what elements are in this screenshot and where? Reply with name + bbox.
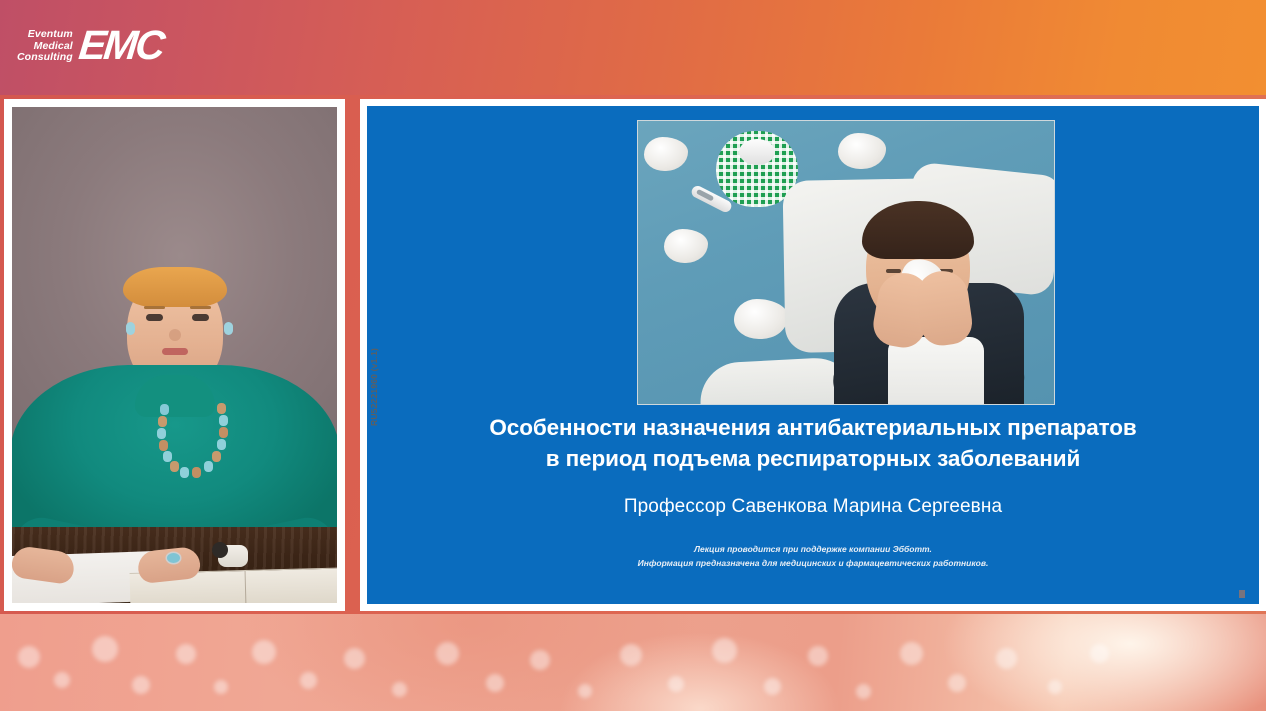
bokeh-dot <box>252 640 276 664</box>
slide-title: Особенности назначения антибактериальных… <box>367 412 1259 474</box>
bokeh-dot <box>344 648 365 669</box>
speaker-video[interactable] <box>12 107 337 603</box>
necklace-bead <box>219 427 228 438</box>
bokeh-dot <box>392 682 407 697</box>
logo-emc-mark: EMC <box>77 25 165 66</box>
bokeh-dot <box>54 672 70 688</box>
bottom-decorative-band <box>0 614 1266 711</box>
bokeh-dot <box>214 680 228 694</box>
speaker-collar <box>135 375 215 417</box>
speaker-panel-frame <box>4 99 345 611</box>
ice-bag-cap <box>739 139 775 165</box>
slide-title-line1: Особенности назначения антибактериальных… <box>407 412 1219 443</box>
bokeh-dot <box>620 644 642 666</box>
necklace-bead <box>158 416 167 427</box>
necklace-bead <box>192 467 201 478</box>
speaker-nose <box>169 329 181 341</box>
necklace-bead <box>217 403 226 414</box>
bokeh-dot <box>176 644 196 664</box>
speaker-earring-right <box>224 322 233 335</box>
bokeh-dot <box>948 674 966 692</box>
presentation-slide[interactable]: RU52221960 (v1.1) <box>367 106 1259 604</box>
necklace-bead <box>180 467 189 478</box>
bokeh-dot <box>578 684 592 698</box>
logo-wordmark: Eventum Medical Consulting <box>17 29 73 64</box>
bokeh-dot <box>436 642 459 665</box>
logo-line-eventum: Eventum <box>28 29 73 41</box>
slide-photo <box>637 120 1055 405</box>
speaker-eye-left <box>146 314 163 321</box>
bokeh-dot <box>764 678 781 695</box>
necklace-bead <box>219 415 228 426</box>
webinar-screen: Eventum Medical Consulting EMC <box>0 0 1266 711</box>
speaker-earring-left <box>126 322 135 335</box>
necklace-bead <box>212 451 221 462</box>
bokeh-dot <box>668 676 684 692</box>
bokeh-dot <box>486 674 504 692</box>
slide-panel-frame: RU52221960 (v1.1) <box>360 99 1266 611</box>
speaker-watch <box>218 545 248 567</box>
bokeh-dot <box>996 648 1017 669</box>
speaker-mouth <box>162 348 188 355</box>
bokeh-dot <box>712 638 737 663</box>
slide-disclaimer: Лекция проводится при поддержке компании… <box>367 542 1259 570</box>
slide-title-line2: в период подъема респираторных заболеван… <box>407 443 1219 474</box>
bokeh-dot <box>856 684 871 699</box>
bokeh-dot <box>132 676 150 694</box>
speaker-fringe <box>123 267 227 307</box>
necklace-bead <box>157 428 166 439</box>
speaker-brow-right <box>190 306 211 309</box>
bokeh-dot <box>1048 680 1062 694</box>
speaker-brow-left <box>144 306 165 309</box>
disclaimer-line1: Лекция проводится при поддержке компании… <box>367 542 1259 556</box>
bokeh-dot <box>900 642 923 665</box>
necklace-bead <box>217 439 226 450</box>
speaker-eye-right <box>192 314 209 321</box>
bokeh-dot <box>1090 644 1109 663</box>
bokeh-dot <box>808 646 828 666</box>
necklace-bead <box>163 451 172 462</box>
necklace-bead <box>159 440 168 451</box>
logo-line-consulting: Consulting <box>17 52 73 64</box>
disclaimer-line2: Информация предназначена для медицинских… <box>367 556 1259 570</box>
top-gradient-banner: Eventum Medical Consulting EMC <box>0 0 1266 95</box>
emc-logo: Eventum Medical Consulting EMC <box>17 26 162 67</box>
speaker-ring <box>167 553 180 563</box>
slide-speaker-name: Профессор Савенкова Марина Сергеевна <box>367 496 1259 518</box>
necklace-bead <box>170 461 179 472</box>
bokeh-dot <box>300 672 317 689</box>
slide-corner-artifact <box>1239 590 1245 598</box>
bokeh-dot <box>530 650 550 670</box>
necklace-bead <box>160 404 169 415</box>
necklace-bead <box>204 461 213 472</box>
bokeh-dot <box>92 636 118 662</box>
bokeh-dot <box>18 646 40 668</box>
